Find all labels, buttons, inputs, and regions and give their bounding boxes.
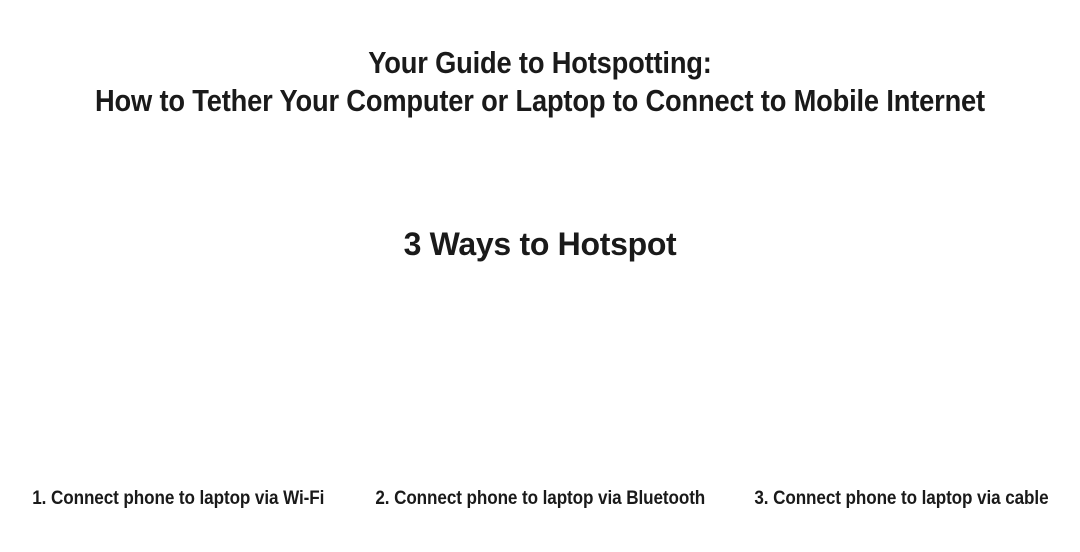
step-caption-label: 3. Connect phone to laptop via cable (755, 486, 1049, 512)
step-caption-label: 1. Connect phone to laptop via Wi-Fi (32, 486, 324, 512)
step-caption-3: 3. Connect phone to laptop via cable (723, 486, 1080, 512)
page-title: Your Guide to Hotspotting: How to Tether… (0, 44, 1080, 120)
step-caption-row: 1. Connect phone to laptop via Wi-Fi 2. … (0, 486, 1080, 512)
step-caption-label: 2. Connect phone to laptop via Bluetooth (375, 486, 705, 512)
step-caption-1: 1. Connect phone to laptop via Wi-Fi (0, 486, 357, 512)
illustration-row (0, 282, 1080, 478)
cable-tether-illustration (720, 282, 1080, 478)
step-caption-2: 2. Connect phone to laptop via Bluetooth (357, 486, 724, 512)
page-title-line-1: Your Guide to Hotspotting: (65, 44, 1015, 82)
bluetooth-tether-illustration (360, 282, 720, 478)
section-heading: 3 Ways to Hotspot (0, 224, 1080, 264)
wifi-tether-illustration (0, 282, 360, 478)
section-heading-label: 3 Ways to Hotspot (404, 224, 677, 264)
page-title-line-2: How to Tether Your Computer or Laptop to… (65, 82, 1015, 120)
infographic-canvas: Your Guide to Hotspotting: How to Tether… (0, 0, 1080, 552)
